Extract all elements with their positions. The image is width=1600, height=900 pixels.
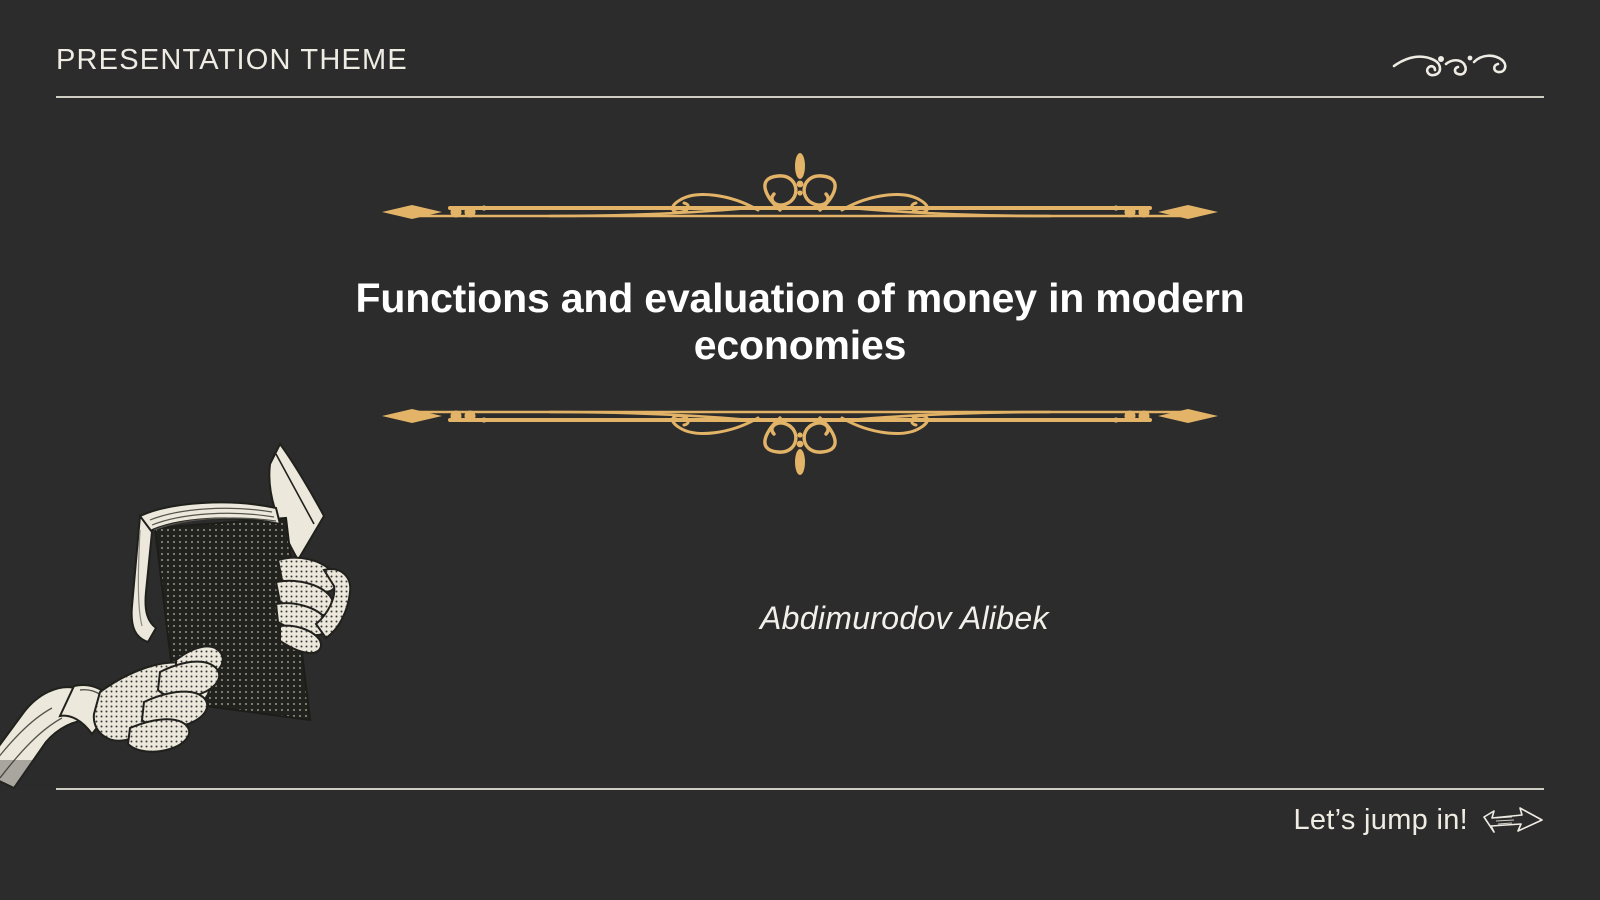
- header-divider-rule: [56, 96, 1544, 98]
- swirl-flourish-icon: [1392, 40, 1512, 84]
- hands-holding-open-book-icon: [0, 420, 360, 790]
- vintage-arrow-right-icon[interactable]: [1482, 805, 1544, 835]
- presentation-slide: PRESENTATION THEME: [0, 0, 1600, 900]
- bottom-ornament-divider: [350, 390, 1250, 480]
- title-block: Functions and evaluation of money in mod…: [340, 275, 1260, 368]
- author-block: Abdimurodov Alibek: [760, 600, 1320, 637]
- footer-cta-text: Let’s jump in!: [1293, 804, 1468, 837]
- footer-divider-rule: [56, 788, 1544, 790]
- slide-footer[interactable]: Let’s jump in!: [1293, 796, 1544, 844]
- author-name: Abdimurodov Alibek: [760, 600, 1320, 637]
- header-title: PRESENTATION THEME: [56, 44, 408, 77]
- slide-header: PRESENTATION THEME: [56, 44, 1544, 100]
- slide-title: Functions and evaluation of money in mod…: [340, 275, 1260, 368]
- top-ornament-divider: [350, 148, 1250, 238]
